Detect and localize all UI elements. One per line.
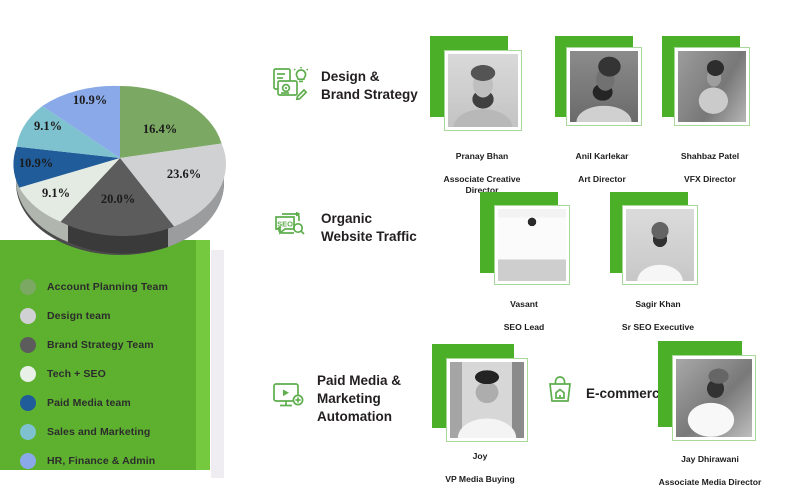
legend-item-account-planning[interactable]: Account Planning Team [20,272,200,301]
slice-value-account-planning: 16.4% [143,122,177,136]
section-title-design: Design & Brand Strategy [321,68,418,104]
member-name: Shahbaz Patel [660,151,760,162]
member-name: Anil Karlekar [552,151,652,162]
member-role: VP Media Buying [430,474,530,485]
seo-speech-bubble-icon: SEO [272,208,310,247]
legend-swatch-icon [20,337,36,353]
section-title-paid-media: Paid Media & Marketing Automation [317,372,401,426]
monitor-play-icon [272,380,306,417]
member-role: VFX Director [660,174,760,185]
section-header-ecommerce: E-commerce [545,375,667,412]
section-title-seo: Organic Website Traffic [321,210,417,246]
member-photo [448,54,518,127]
legend-swatch-icon [20,395,36,411]
legend-item-label: HR, Finance & Admin [47,455,155,467]
member-caption-sagir-khan: Sagir Khan Sr SEO Executive [604,288,712,345]
member-photo-frame [622,205,698,285]
legend-item-label: Paid Media team [47,397,131,409]
section-header-design: Design & Brand Strategy [272,66,418,105]
legend-item-label: Tech + SEO [47,368,106,380]
member-photo [498,209,566,281]
slice-value-tech-seo: 9.1% [42,186,70,200]
member-caption-jay-dhirawani: Jay Dhirawani Associate Media Director [644,443,776,500]
member-photo [626,209,694,281]
member-role: Sr SEO Executive [604,322,712,333]
member-name: Vasant [478,299,570,310]
member-role: Associate Media Director [644,477,776,488]
member-photo-frame [446,358,528,442]
member-name: Jay Dhirawani [644,454,776,465]
member-photo [678,51,746,122]
legend-item-hr-finance-admin[interactable]: HR, Finance & Admin [20,446,200,475]
member-photo-frame [494,205,570,285]
member-photo-frame [444,50,522,131]
shopping-bag-icon [545,375,575,412]
legend-swatch-icon [20,424,36,440]
member-photo [570,51,638,122]
section-title-ecommerce: E-commerce [586,385,667,403]
section-header-seo: SEO Organic Website Traffic [272,208,417,247]
legend-swatch-icon [20,453,36,469]
document-lightbulb-pen-icon [272,66,310,105]
slide-canvas: 16.4% 23.6% 20.0% 9.1% 10.9% 9.1% 10.9% … [0,0,800,500]
member-name: Sagir Khan [604,299,712,310]
slice-value-design-team: 23.6% [167,167,201,181]
legend-item-label: Design team [47,310,111,322]
member-card-vasant[interactable] [480,192,572,287]
legend-item-label: Sales and Marketing [47,426,150,438]
member-name: Pranay Bhan [426,151,538,162]
member-card-anil-karlekar[interactable] [555,36,647,131]
section-header-paid-media: Paid Media & Marketing Automation [272,372,422,426]
member-card-joy[interactable] [432,344,528,442]
legend-item-label: Brand Strategy Team [47,339,154,351]
member-card-pranay-bhan[interactable] [430,36,522,131]
legend-swatch-icon [20,366,36,382]
member-card-shahbaz-patel[interactable] [662,36,754,131]
member-role: Art Director [552,174,652,185]
slice-value-sales-marketing: 9.1% [34,119,62,133]
legend-item-sales-marketing[interactable]: Sales and Marketing [20,417,200,446]
member-caption-joy: Joy VP Media Buying [430,440,530,497]
member-photo-frame [674,47,750,126]
legend-swatch-icon [20,308,36,324]
member-photo-frame [566,47,642,126]
slice-value-hr-finance: 10.9% [73,93,107,107]
pie-chart: 16.4% 23.6% 20.0% 9.1% 10.9% 9.1% 10.9% [8,55,233,270]
member-photo [676,359,752,437]
slice-value-brand-strategy: 20.0% [101,192,135,206]
legend-item-paid-media[interactable]: Paid Media team [20,388,200,417]
pie-chart-svg: 16.4% 23.6% 20.0% 9.1% 10.9% 9.1% 10.9% [8,55,233,270]
slice-value-paid-media: 10.9% [19,156,53,170]
legend-item-design-team[interactable]: Design team [20,301,200,330]
scrollbar-track[interactable] [211,250,224,478]
member-photo-frame [672,355,756,441]
member-photo [450,362,524,438]
member-card-sagir-khan[interactable] [610,192,702,287]
legend-swatch-icon [20,279,36,295]
member-card-jay-dhirawani[interactable] [658,341,756,441]
member-role: SEO Lead [478,322,570,333]
legend-item-tech-seo[interactable]: Tech + SEO [20,359,200,388]
member-name: Joy [430,451,530,462]
chart-legend: Account Planning Team Design team Brand … [20,272,200,475]
member-caption-vasant: Vasant SEO Lead [478,288,570,345]
legend-item-brand-strategy[interactable]: Brand Strategy Team [20,330,200,359]
member-caption-anil-karlekar: Anil Karlekar Art Director [552,140,652,197]
member-caption-shahbaz-patel: Shahbaz Patel VFX Director [660,140,760,197]
legend-item-label: Account Planning Team [47,281,168,293]
